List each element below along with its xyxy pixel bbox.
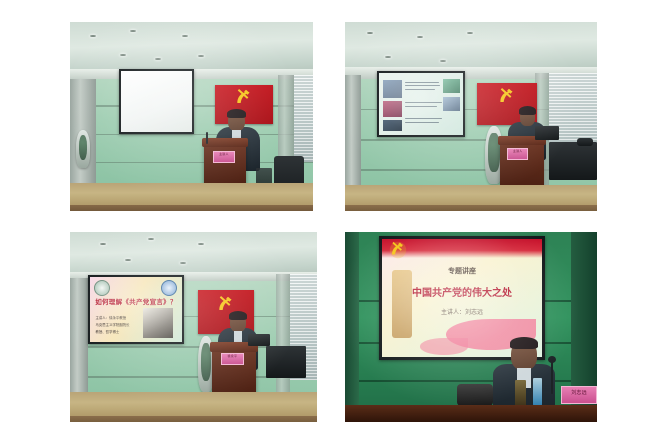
telephone-icon <box>577 138 593 146</box>
downlight-icon <box>90 35 96 37</box>
slide-logo-right <box>161 280 177 296</box>
slide-portrait <box>143 308 172 338</box>
slide-photo <box>443 79 460 93</box>
wall-pillar <box>276 274 290 399</box>
speaker-hair <box>519 106 536 115</box>
downlight-icon <box>125 259 131 261</box>
downlight-icon <box>440 60 446 62</box>
downlight-icon <box>180 262 186 264</box>
photo-top-right: 主讲人 <box>345 22 597 211</box>
laptop <box>248 334 270 346</box>
slide-photo <box>443 97 460 112</box>
hammer-and-sickle-icon <box>496 87 518 107</box>
slide-ribbon <box>420 338 468 355</box>
microphone-icon <box>551 360 553 394</box>
podium-top <box>202 138 247 147</box>
slide-photo <box>383 80 401 97</box>
photo-collage: 主讲人 <box>0 0 660 440</box>
podium-nameplate: 徐永平 <box>221 353 244 365</box>
slide-content: 如何理解《共产党宣言》？ 主讲人：徐永平教授 马克思主义学院副院长 教授、哲学博… <box>90 277 182 342</box>
downlight-icon <box>385 56 391 58</box>
downlight-icon <box>130 30 136 32</box>
wall-pillar <box>70 278 88 400</box>
projection-screen: 如何理解《共产党宣言》？ 主讲人：徐永平教授 马克思主义学院副院长 教授、哲学博… <box>88 275 184 344</box>
speaker-shirt <box>234 331 242 342</box>
floor-shadow <box>70 205 313 211</box>
downlight-icon <box>120 54 126 56</box>
slide-logo-left <box>94 280 110 296</box>
slide-text-line <box>405 106 437 107</box>
downlight-icon <box>417 36 423 38</box>
wall-seam <box>345 380 597 382</box>
slide-content <box>379 73 463 135</box>
projection-screen <box>377 71 465 137</box>
slide-text-line <box>405 82 439 83</box>
downlight-icon <box>148 238 154 240</box>
av-equipment <box>549 142 597 180</box>
podium-nameplate: 主讲人 <box>507 148 528 160</box>
wall-pillar <box>345 232 359 422</box>
slide-eyebrow: 专题讲座 <box>382 266 542 276</box>
downlight-icon <box>100 243 106 245</box>
nameplate-text: 徐永平 <box>222 354 243 358</box>
speaker-hair <box>227 109 246 118</box>
av-equipment <box>266 346 306 378</box>
downlight-icon <box>198 243 204 245</box>
slide-title: 如何理解《共产党宣言》？ <box>90 296 182 306</box>
wall-pillar <box>345 75 361 188</box>
slide-body-line-2: 马克思主义学院副院长 <box>96 322 142 327</box>
microphone-head-icon <box>548 356 556 363</box>
slide-text-line <box>405 118 442 119</box>
water-bottle <box>533 378 542 406</box>
slide-text-line <box>405 122 439 123</box>
bag <box>457 384 493 406</box>
photo-bottom-right: 专题讲座 中国共产党的伟大之处 主讲人：刘志远 刘志远 <box>345 232 597 422</box>
table-nameplate: 刘志远 <box>561 386 597 404</box>
downlight-icon <box>467 32 473 34</box>
speaker-hair <box>229 311 247 320</box>
photo-top-left: 主讲人 <box>70 22 313 211</box>
podium-nameplate: 主讲人 <box>213 151 234 162</box>
microphone-icon <box>206 132 208 144</box>
slide-body-line-3: 教授、哲学博士 <box>96 329 142 334</box>
window-blinds <box>294 75 313 162</box>
decorative-vase <box>76 130 90 168</box>
photo-bottom-left: 如何理解《共产党宣言》？ 主讲人：徐永平教授 马克思主义学院副院长 教授、哲学博… <box>70 232 317 422</box>
slide-title: 中国共产党的伟大之处 <box>382 284 542 299</box>
downlight-icon <box>367 32 373 34</box>
slide-text-line <box>405 89 435 90</box>
slide-ornament-column <box>392 270 413 338</box>
hammer-and-sickle-icon <box>233 88 255 108</box>
nameplate-text: 主讲人 <box>508 149 527 153</box>
downlight-icon <box>155 58 161 60</box>
floor-shadow <box>345 205 597 211</box>
slide-text-line <box>405 85 440 86</box>
slide-photo <box>383 120 401 131</box>
slide-presenter: 主讲人：刘志远 <box>382 307 542 316</box>
head-table <box>345 405 597 422</box>
hammer-and-sickle-icon <box>388 241 408 259</box>
speaker-hair <box>510 337 538 349</box>
laptop <box>535 126 559 140</box>
slide-body-line-1: 主讲人：徐永平教授 <box>96 315 142 320</box>
downlight-icon <box>198 55 204 57</box>
downlight-icon <box>182 35 188 37</box>
nameplate-text: 刘志远 <box>562 387 596 396</box>
floor-shadow <box>70 416 317 422</box>
nameplate-text: 主讲人 <box>214 152 233 156</box>
slide-text-line <box>405 102 442 103</box>
slide-photo <box>383 101 401 117</box>
thermos <box>515 380 526 408</box>
window <box>294 75 313 162</box>
projection-screen <box>119 69 194 134</box>
